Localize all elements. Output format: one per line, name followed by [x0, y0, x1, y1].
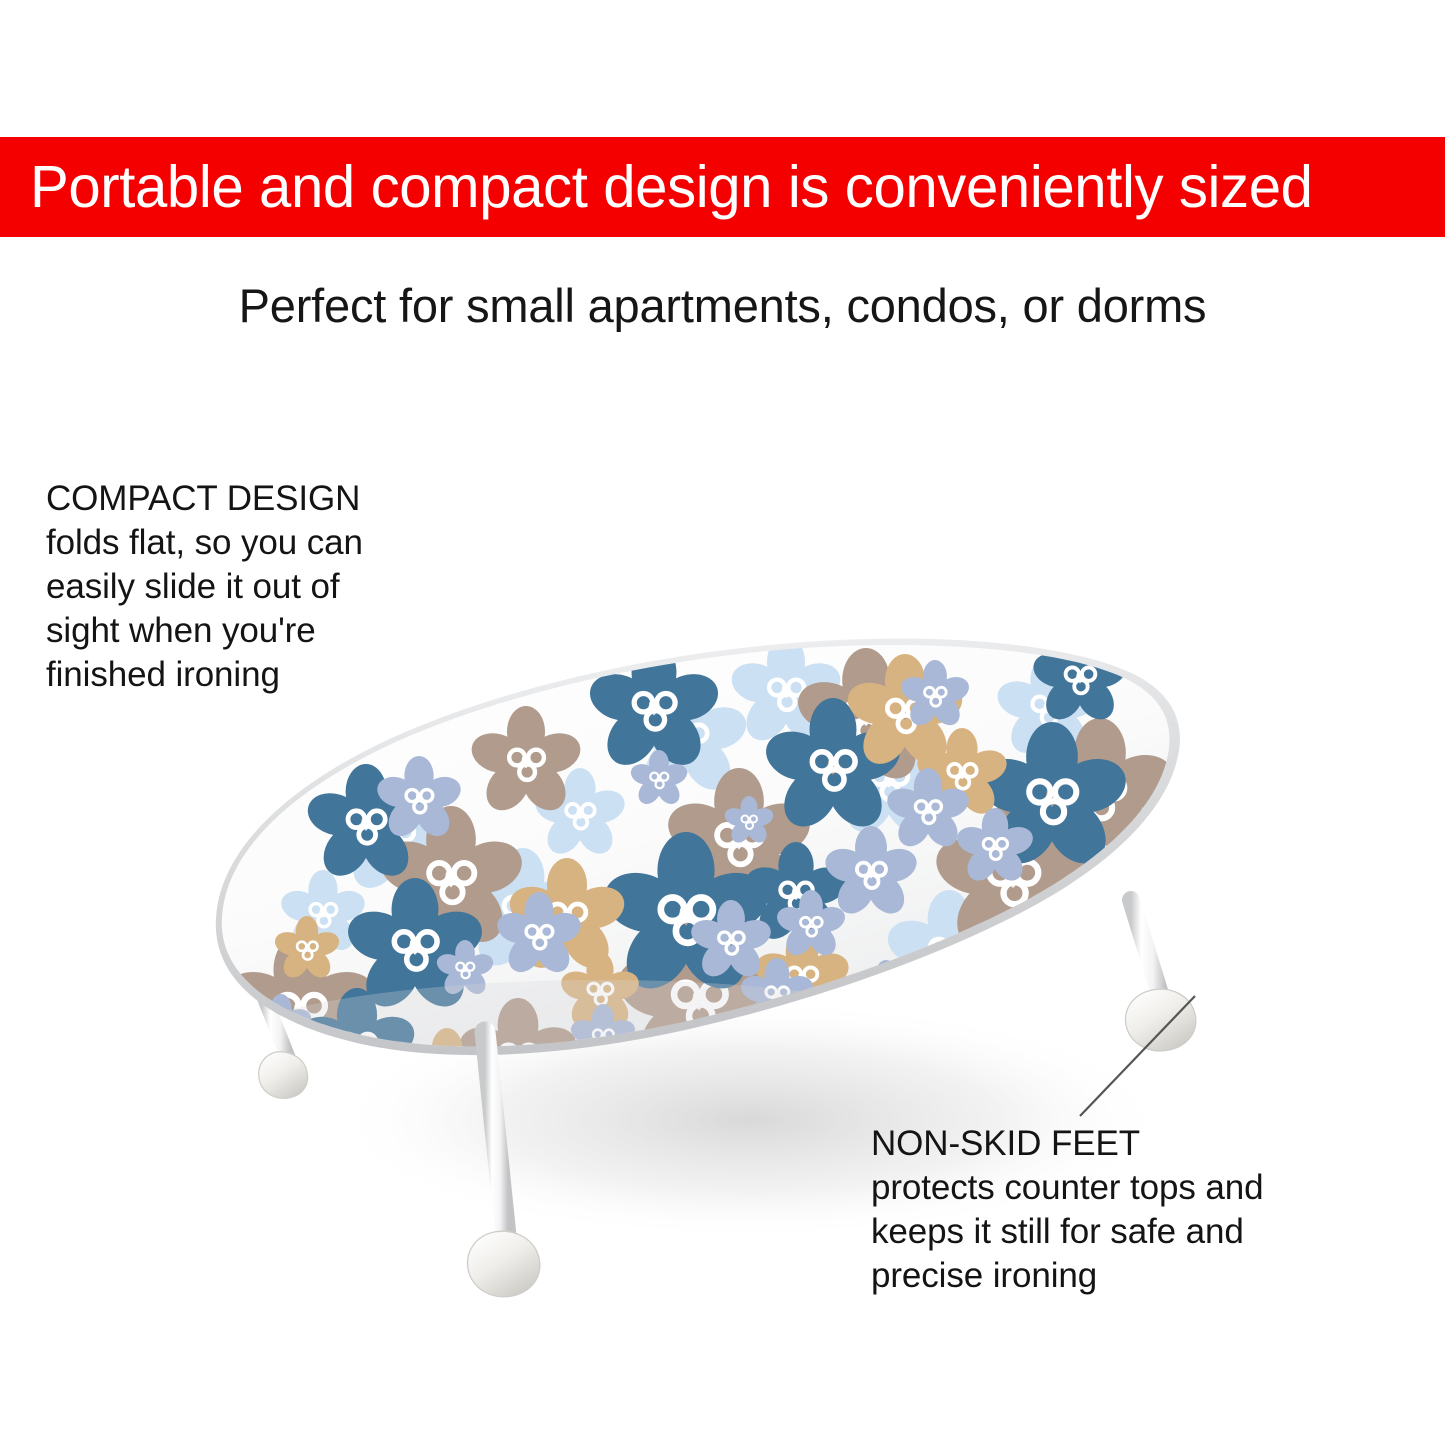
callout-compact-design: COMPACT DESIGN folds flat, so you can ea… — [46, 477, 466, 697]
callout-compact-design-line-2: easily slide it out of — [46, 565, 466, 609]
leg-right — [1126, 900, 1196, 1051]
callout-non-skid-feet-line-2: keeps it still for safe and — [871, 1210, 1371, 1254]
callout-compact-design-line-1: folds flat, so you can — [46, 521, 466, 565]
callout-compact-design-line-3: sight when you're — [46, 609, 466, 653]
callout-compact-design-headline: COMPACT DESIGN — [46, 477, 466, 521]
callout-non-skid-feet: NON-SKID FEET protects counter tops and … — [871, 1122, 1371, 1298]
subtitle-text: Perfect for small apartments, condos, or… — [0, 278, 1445, 333]
callout-non-skid-feet-headline: NON-SKID FEET — [871, 1122, 1371, 1166]
callout-compact-design-line-4: finished ironing — [46, 653, 466, 697]
infographic-page: Portable and compact design is convenien… — [0, 0, 1445, 1445]
callout-non-skid-feet-line-3: precise ironing — [871, 1254, 1371, 1298]
headline-banner: Portable and compact design is convenien… — [0, 137, 1445, 237]
callout-non-skid-feet-line-1: protects counter tops and — [871, 1166, 1371, 1210]
banner-headline-text: Portable and compact design is convenien… — [30, 158, 1313, 217]
